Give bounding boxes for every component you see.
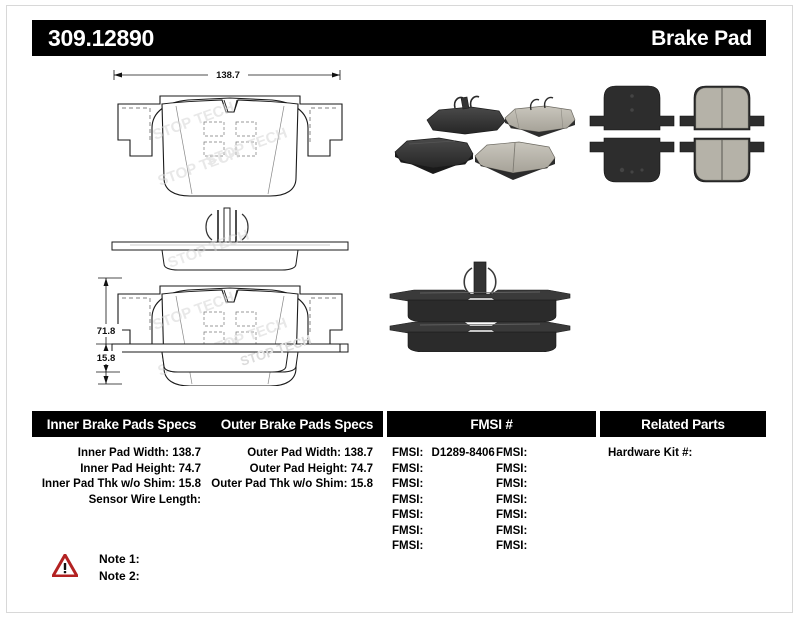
- spec-row: Sensor Wire Length:: [32, 493, 211, 509]
- spec-label: Inner Pad Width:: [78, 447, 169, 459]
- fmsi-subcolumn-1: FMSI: D1289-8406 FMSI: FMSI: FMSI:: [387, 446, 491, 558]
- fmsi-value: [423, 478, 428, 490]
- related-part-label: Hardware Kit #:: [608, 447, 692, 459]
- product-photo-edge: [384, 252, 578, 352]
- fmsi-row: FMSI:: [496, 446, 595, 462]
- header-bar: 309.12890 Brake Pad: [32, 20, 766, 56]
- spec-value: 74.7: [351, 463, 373, 475]
- fmsi-row: FMSI:: [392, 493, 491, 509]
- fmsi-value: D1289-8406: [427, 447, 495, 459]
- spec-value: 138.7: [172, 447, 201, 459]
- part-number: 309.12890: [48, 27, 154, 50]
- spec-label: Inner Pad Height:: [80, 463, 175, 475]
- related-part-row: Hardware Kit #:: [600, 446, 766, 462]
- fmsi-label: FMSI:: [496, 540, 527, 552]
- fmsi-value: [527, 447, 532, 459]
- column-header-fmsi: FMSI #: [387, 411, 596, 437]
- fmsi-row: FMSI:: [496, 493, 595, 509]
- fmsi-row: FMSI:: [392, 477, 491, 493]
- fmsi-label: FMSI:: [496, 478, 527, 490]
- dimension-width: 138.7: [114, 68, 340, 81]
- note-2: Note 2:: [99, 568, 140, 585]
- spec-value: 15.8: [179, 478, 201, 490]
- spec-label: Outer Pad Width:: [247, 447, 341, 459]
- fmsi-label: FMSI:: [496, 494, 527, 506]
- spec-value: 138.7: [344, 447, 373, 459]
- related-parts-column: Hardware Kit #:: [600, 446, 766, 558]
- column-header-inner-specs: Inner Brake Pads Specs: [32, 411, 211, 437]
- fmsi-label: FMSI:: [496, 463, 527, 475]
- fmsi-value: [423, 540, 428, 552]
- fmsi-label: FMSI:: [392, 463, 423, 475]
- fmsi-label: FMSI:: [496, 509, 527, 521]
- cad-thickness-view: STOP TECH 15.8: [92, 334, 362, 382]
- warning-triangle-icon: [52, 554, 78, 577]
- spec-row: Inner Pad Thk w/o Shim: 15.8: [32, 477, 211, 493]
- inner-specs-column: Inner Pad Width: 138.7 Inner Pad Height:…: [32, 446, 211, 558]
- note-1: Note 1:: [99, 551, 140, 568]
- spec-row: Outer Pad Height: 74.7: [211, 462, 383, 478]
- spec-value: 74.7: [179, 463, 201, 475]
- spec-sheet-page: 309.12890 Brake Pad: [0, 0, 800, 619]
- fmsi-row: FMSI:: [496, 462, 595, 478]
- fmsi-row: FMSI: D1289-8406: [392, 446, 491, 462]
- fmsi-label: FMSI:: [496, 447, 527, 459]
- fmsi-value: [527, 463, 532, 475]
- specifications-table: Inner Brake Pads Specs Outer Brake Pads …: [32, 411, 766, 558]
- fmsi-label: FMSI:: [496, 525, 527, 537]
- table-header-row: Inner Brake Pads Specs Outer Brake Pads …: [32, 411, 766, 437]
- column-header-related-parts: Related Parts: [600, 411, 766, 437]
- product-type-label: Brake Pad: [651, 28, 752, 49]
- fmsi-label: FMSI:: [392, 447, 423, 459]
- note-text-block: Note 1: Note 2:: [99, 551, 140, 585]
- fmsi-value: [527, 478, 532, 490]
- notes-section: Note 1: Note 2:: [52, 551, 140, 585]
- fmsi-value: [527, 540, 532, 552]
- fmsi-row: FMSI:: [496, 508, 595, 524]
- drawings-area: STOP TECH 138.7: [32, 62, 766, 392]
- spec-value: 15.8: [351, 478, 373, 490]
- column-header-outer-specs: Outer Brake Pads Specs: [211, 411, 383, 437]
- fmsi-label: FMSI:: [392, 478, 423, 490]
- fmsi-value: [423, 509, 428, 521]
- fmsi-value: [527, 525, 532, 537]
- fmsi-value: [423, 525, 428, 537]
- spec-label: Inner Pad Thk w/o Shim:: [42, 478, 176, 490]
- spec-row: Inner Pad Width: 138.7: [32, 446, 211, 462]
- spec-label: Outer Pad Height:: [250, 463, 348, 475]
- fmsi-row: FMSI:: [496, 539, 595, 555]
- fmsi-label: FMSI:: [392, 494, 423, 506]
- dim-width-label: 138.7: [216, 70, 240, 81]
- fmsi-value: [527, 494, 532, 506]
- product-photo-isometric: [387, 82, 579, 186]
- spec-row: Outer Pad Width: 138.7: [211, 446, 383, 462]
- spec-label: Sensor Wire Length:: [89, 494, 201, 506]
- fmsi-value: [527, 509, 532, 521]
- fmsi-row: FMSI:: [496, 524, 595, 540]
- fmsi-column: FMSI: D1289-8406 FMSI: FMSI: FMSI:: [387, 446, 596, 558]
- table-body: Inner Pad Width: 138.7 Inner Pad Height:…: [32, 437, 766, 558]
- fmsi-row: FMSI:: [392, 539, 491, 555]
- fmsi-row: FMSI:: [392, 524, 491, 540]
- fmsi-subcolumn-2: FMSI: FMSI: FMSI: FMSI:: [491, 446, 595, 558]
- spec-row: Inner Pad Height: 74.7: [32, 462, 211, 478]
- fmsi-row: FMSI:: [392, 508, 491, 524]
- fmsi-label: FMSI:: [392, 540, 423, 552]
- spec-label: Outer Pad Thk w/o Shim:: [211, 478, 347, 490]
- fmsi-row: FMSI:: [392, 462, 491, 478]
- fmsi-label: FMSI:: [392, 509, 423, 521]
- dim-thickness-label: 15.8: [97, 353, 116, 364]
- fmsi-label: FMSI:: [392, 525, 423, 537]
- spec-row: Outer Pad Thk w/o Shim: 15.8: [211, 477, 383, 493]
- fmsi-value: [423, 494, 428, 506]
- product-photo-topdown: [584, 82, 770, 192]
- fmsi-row: FMSI:: [496, 477, 595, 493]
- fmsi-value: [423, 463, 428, 475]
- outer-specs-column: Outer Pad Width: 138.7 Outer Pad Height:…: [211, 446, 383, 558]
